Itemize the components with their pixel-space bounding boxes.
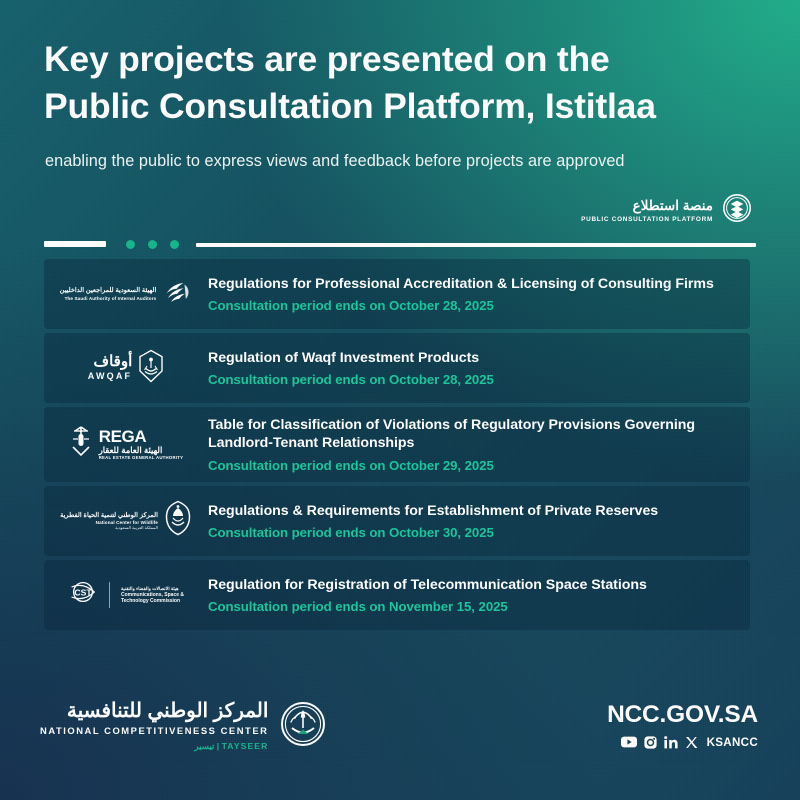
list-item[interactable]: المركز الوطني لتنمية الحياة الفطرية Nati… xyxy=(44,486,750,556)
project-title: Table for Classification of Violations o… xyxy=(208,416,736,453)
entity-logo: أوقاف AWQAF xyxy=(50,342,202,394)
entity-arabic-name: الهيئة السعودية للمراجعين الداخليين xyxy=(60,287,157,294)
ncc-palm-emblem-icon xyxy=(280,701,326,752)
divider-dot xyxy=(148,240,157,249)
consultation-deadline: Consultation period ends on October 30, … xyxy=(208,525,736,540)
project-info: Table for Classification of Violations o… xyxy=(202,416,736,473)
logo-separator xyxy=(109,582,110,608)
project-title: Regulations for Professional Accreditati… xyxy=(208,275,736,293)
page-title: Key projects are presented on the Public… xyxy=(44,36,744,130)
divider-bar xyxy=(44,241,106,247)
entity-logo: الهيئة السعودية للمراجعين الداخليين The … xyxy=(50,268,202,320)
entity-wordmark: المركز الوطني لتنمية الحياة الفطرية Nati… xyxy=(60,512,158,531)
istitlaa-arabic-label: منصة استطلاع xyxy=(633,198,713,214)
istitlaa-wordmark: منصة استطلاع PUBLIC CONSULTATION PLATFOR… xyxy=(581,198,713,223)
project-info: Regulations & Requirements for Establish… xyxy=(202,502,736,540)
entity-english-name: The Saudi Authority of Internal Auditors xyxy=(65,296,157,301)
entity-wordmark: الهيئة السعودية للمراجعين الداخليين The … xyxy=(60,287,157,301)
entity-arabic-name: المركز الوطني لتنمية الحياة الفطرية xyxy=(60,512,158,519)
instagram-icon[interactable] xyxy=(644,736,657,749)
entity-wordmark: REGA الهيئة العامة للعقار REAL ESTATE GE… xyxy=(99,428,184,461)
entity-arabic-name: أوقاف xyxy=(94,354,133,369)
entity-subtitle: المملكة العربية السعودية xyxy=(115,526,158,531)
footer-contact: NCC.GOV.SA xyxy=(607,703,758,749)
ncc-english-name: NATIONAL COMPETITIVENESS CENTER xyxy=(40,725,268,736)
divider-dot xyxy=(170,240,179,249)
entity-logo: REGA الهيئة العامة للعقار REAL ESTATE GE… xyxy=(50,418,202,470)
entity-logo: المركز الوطني لتنمية الحياة الفطرية Nati… xyxy=(50,495,202,547)
cst-icon: CST xyxy=(68,577,98,612)
list-item[interactable]: REGA الهيئة العامة للعقار REAL ESTATE GE… xyxy=(44,407,750,482)
social-links: KSANCC xyxy=(607,736,758,749)
x-twitter-icon[interactable] xyxy=(685,736,698,749)
ncc-arabic-name: المركز الوطني للتنافسية xyxy=(67,700,269,722)
stacked-layers-icon xyxy=(722,193,752,228)
tayseer-label: تيسير | TAYSEER xyxy=(194,741,268,752)
entity-english-name: REGA xyxy=(99,428,147,445)
entity-logo: CST هيئة الاتصالات والفضاء والتقنية Comm… xyxy=(50,569,202,621)
entity-english-name: AWQAF xyxy=(88,371,133,381)
list-item[interactable]: الهيئة السعودية للمراجعين الداخليين The … xyxy=(44,259,750,329)
consultation-deadline: Consultation period ends on October 29, … xyxy=(208,458,736,473)
section-divider xyxy=(44,240,756,248)
project-info: Regulation for Registration of Telecommu… xyxy=(202,576,736,614)
wildlife-emblem-icon xyxy=(164,500,192,541)
poster-canvas: Key projects are presented on the Public… xyxy=(0,0,800,800)
ncc-wordmark: المركز الوطني للتنافسية NATIONAL COMPETI… xyxy=(40,700,268,752)
awqaf-emblem-icon xyxy=(138,349,164,388)
entity-subtitle: REAL ESTATE GENERAL AUTHORITY xyxy=(99,456,184,461)
entity-subtitle: Technology Commission xyxy=(121,598,184,604)
saia-globe-icon xyxy=(162,277,192,312)
project-title: Regulation of Waqf Investment Products xyxy=(208,349,736,367)
entity-arabic-name: الهيئة العامة للعقار xyxy=(99,446,163,455)
page-subtitle: enabling the public to express views and… xyxy=(45,152,765,171)
ncc-logo: المركز الوطني للتنافسية NATIONAL COMPETI… xyxy=(40,700,326,752)
consultation-deadline: Consultation period ends on October 28, … xyxy=(208,372,736,387)
divider-dot xyxy=(126,240,135,249)
istitlaa-english-label: PUBLIC CONSULTATION PLATFORM xyxy=(581,216,713,223)
entity-wordmark: أوقاف AWQAF xyxy=(88,354,133,381)
consultation-deadline: Consultation period ends on November 15,… xyxy=(208,599,736,614)
project-title: Regulations & Requirements for Establish… xyxy=(208,502,736,520)
rega-icon xyxy=(69,425,93,464)
list-item[interactable]: أوقاف AWQAF Regulation of Waqf Investmen… xyxy=(44,333,750,403)
divider-line xyxy=(196,243,756,247)
headline-line-1: Key projects are presented on the xyxy=(44,39,610,79)
svg-text:CST: CST xyxy=(74,588,92,598)
projects-list: الهيئة السعودية للمراجعين الداخليين The … xyxy=(44,259,750,634)
project-info: Regulations for Professional Accreditati… xyxy=(202,275,736,313)
project-info: Regulation of Waqf Investment Products C… xyxy=(202,349,736,387)
list-item[interactable]: CST هيئة الاتصالات والفضاء والتقنية Comm… xyxy=(44,560,750,630)
istitlaa-platform-logo: منصة استطلاع PUBLIC CONSULTATION PLATFOR… xyxy=(581,193,752,228)
entity-wordmark: هيئة الاتصالات والفضاء والتقنية Communic… xyxy=(121,586,184,604)
project-title: Regulation for Registration of Telecommu… xyxy=(208,576,736,594)
youtube-icon[interactable] xyxy=(621,736,637,748)
website-url[interactable]: NCC.GOV.SA xyxy=(607,703,758,728)
headline-line-2: Public Consultation Platform, Istitlaa xyxy=(44,83,744,130)
consultation-deadline: Consultation period ends on October 28, … xyxy=(208,298,736,313)
linkedin-icon[interactable] xyxy=(664,736,678,749)
social-handle[interactable]: KSANCC xyxy=(707,736,758,749)
